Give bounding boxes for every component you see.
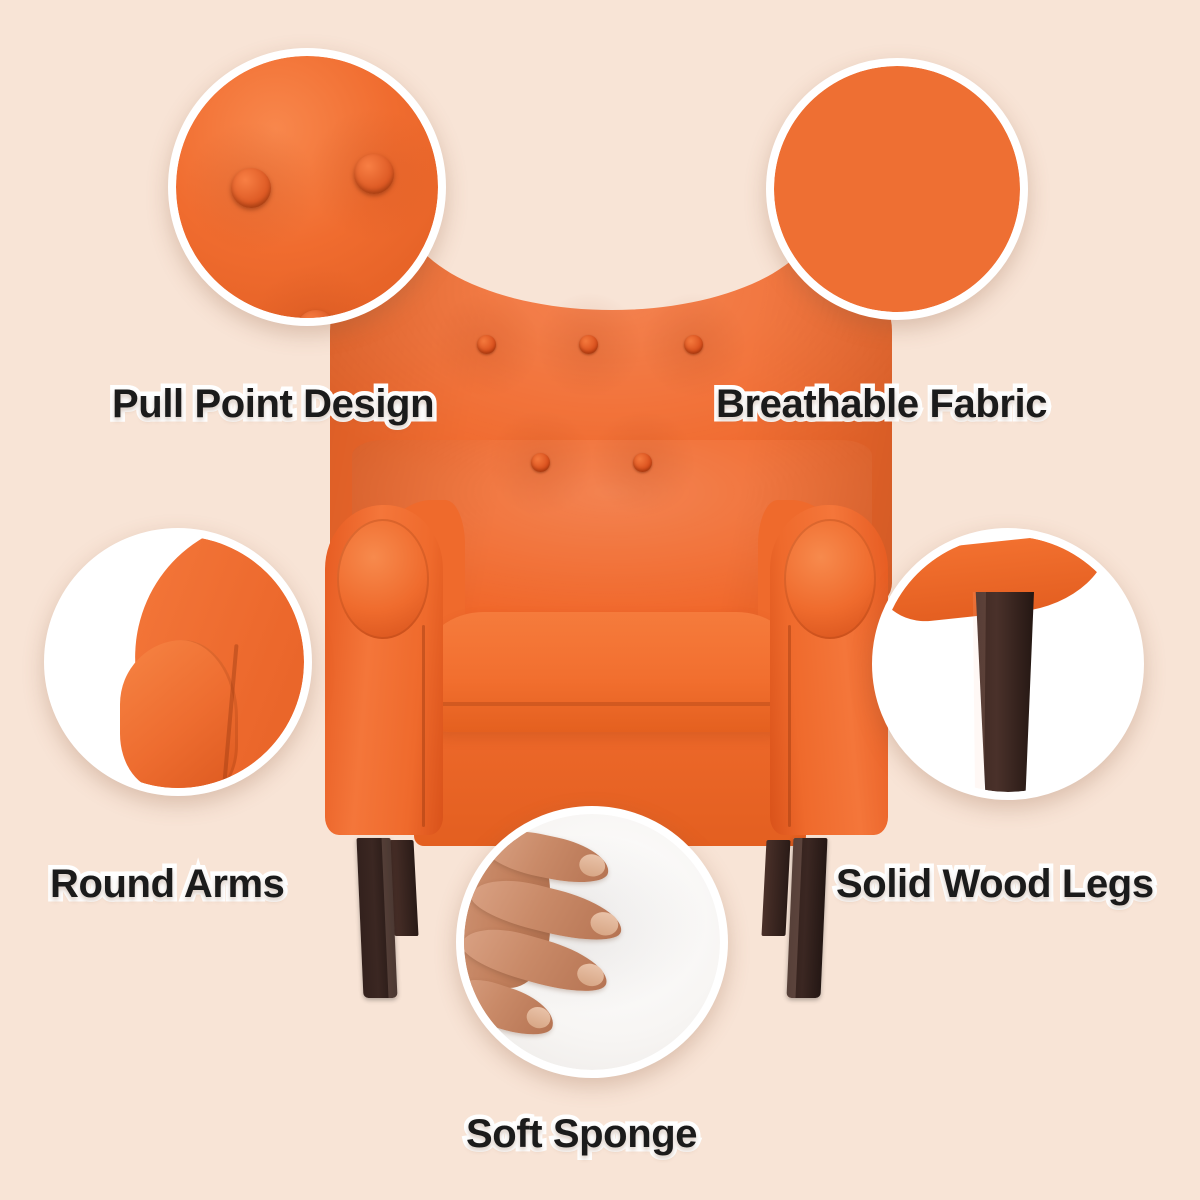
label-round-arms: Round Arms bbox=[50, 862, 285, 907]
chair-leg-front-left bbox=[357, 838, 398, 998]
arm-roll-closeup bbox=[120, 640, 238, 788]
label-pull-point-design: Pull Point Design bbox=[112, 382, 434, 427]
tufting-button bbox=[531, 453, 550, 472]
chair-arm-right bbox=[770, 505, 888, 835]
tufting-button-zoom bbox=[231, 168, 271, 208]
callout-wood-leg-image bbox=[880, 536, 1136, 792]
wood-leg-edge-highlight bbox=[972, 592, 986, 792]
label-breathable-fabric: Breathable Fabric bbox=[716, 382, 1047, 427]
label-soft-sponge: Soft Sponge bbox=[466, 1112, 697, 1157]
tufting-button-zoom bbox=[354, 154, 394, 194]
label-solid-wood-legs: Solid Wood Legs bbox=[836, 862, 1154, 907]
chair-leg-rear-right bbox=[761, 840, 790, 936]
chair-arm-left bbox=[325, 505, 443, 835]
tufting-button bbox=[477, 335, 496, 354]
callout-solid-wood-legs bbox=[872, 528, 1144, 800]
tuft-pucker-zoom bbox=[241, 255, 391, 318]
tufting-button bbox=[633, 453, 652, 472]
callout-foam-image bbox=[464, 814, 720, 1070]
chair-arm-roll-right bbox=[784, 519, 876, 639]
callout-pull-point-image bbox=[176, 56, 438, 318]
chair-seat-crease bbox=[424, 702, 796, 706]
chair-arm-piping-left bbox=[422, 625, 425, 827]
chair-arm-piping-right bbox=[788, 625, 791, 827]
callout-breathable-fabric bbox=[766, 58, 1028, 320]
chair-seat-cushion bbox=[424, 612, 796, 732]
chair-leg-front-right bbox=[787, 838, 828, 998]
chair-arm-roll-left bbox=[337, 519, 429, 639]
tufting-button bbox=[579, 335, 598, 354]
callout-pull-point-design bbox=[168, 48, 446, 326]
tufting-button bbox=[684, 335, 703, 354]
callout-round-arms-image bbox=[52, 536, 304, 788]
callout-soft-sponge bbox=[456, 806, 728, 1078]
infographic-canvas: Pull Point Design Breathable Fabric Roun… bbox=[0, 0, 1200, 1200]
callout-round-arms bbox=[44, 528, 312, 796]
callout-fabric-weave-image bbox=[774, 66, 1020, 312]
